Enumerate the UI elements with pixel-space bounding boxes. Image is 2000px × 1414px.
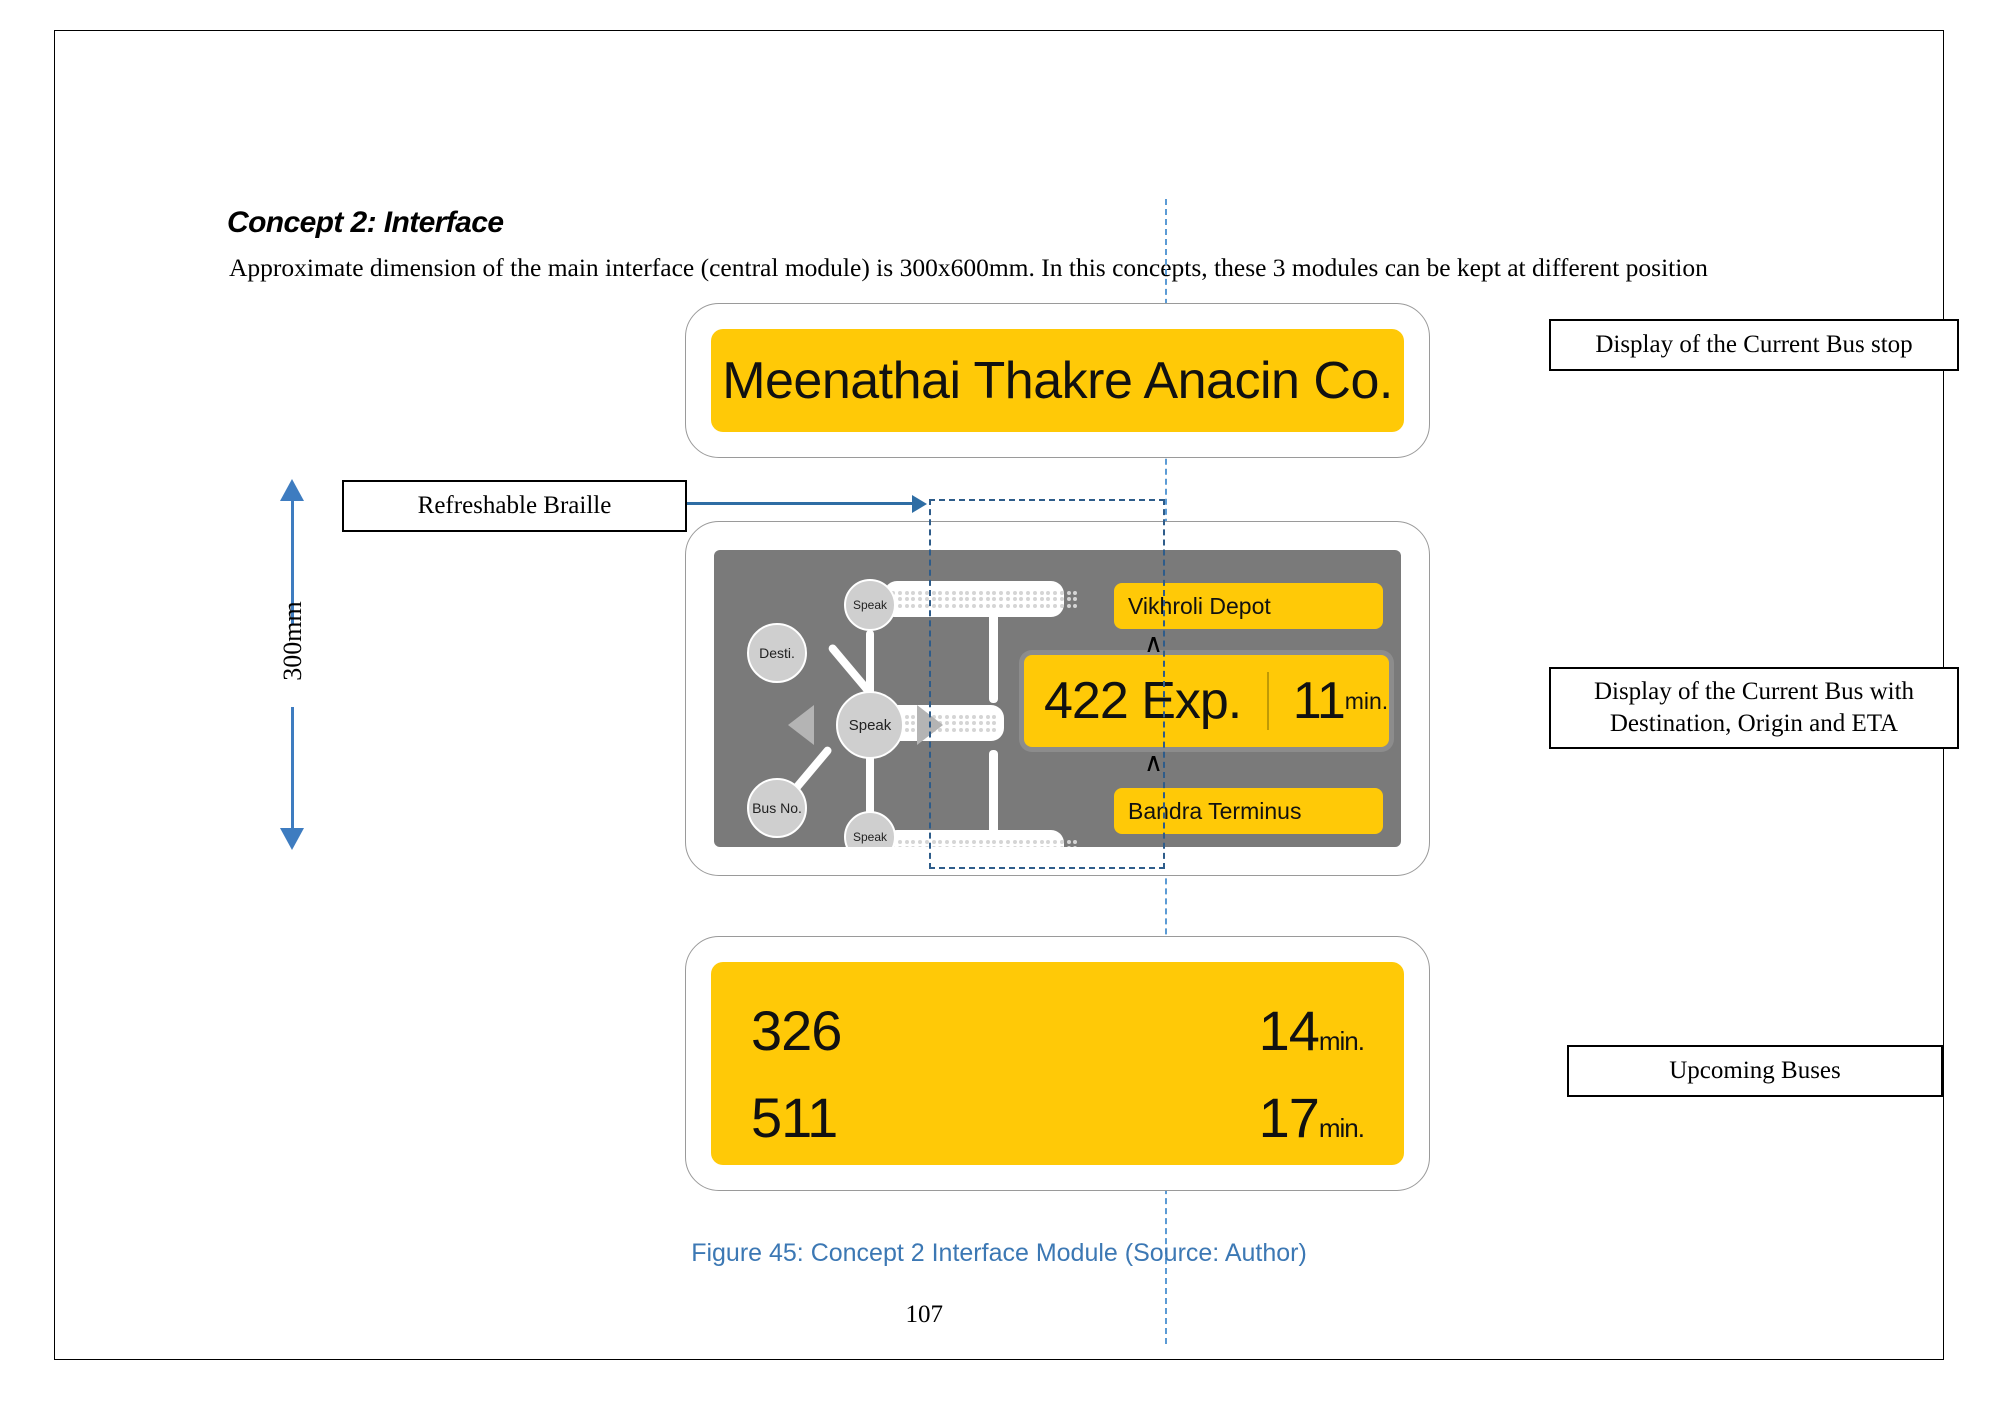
braille-dot: [905, 591, 909, 595]
body-paragraph: Approximate dimension of the main interf…: [229, 253, 1708, 283]
callout-current-bus-detail-line2: Destination, Origin and ETA: [1610, 710, 1898, 737]
callout-upcoming-buses: Upcoming Buses: [1567, 1045, 1943, 1097]
braille-dot: [905, 715, 909, 719]
braille-cell: [905, 715, 916, 732]
braille-dot: [918, 604, 922, 608]
node-speak-bottom-label: Speak: [853, 830, 887, 844]
braille-dot: [911, 840, 915, 844]
node-bus-number-label: Bus No.: [752, 800, 802, 816]
braille-dot: [911, 591, 915, 595]
page-number: 107: [55, 1301, 943, 1329]
callout-current-bus-stop: Display of the Current Bus stop: [1549, 319, 1959, 371]
callout-current-bus-detail-label: Display of the Current Bus with Destinat…: [1594, 676, 1914, 740]
braille-dot: [905, 728, 909, 732]
upcoming-eta-unit-0: min.: [1319, 1026, 1364, 1056]
braille-dot: [905, 846, 909, 847]
callout-current-bus-stop-label: Display of the Current Bus stop: [1595, 329, 1912, 361]
braille-dot: [918, 840, 922, 844]
node-destination-label: Desti.: [759, 645, 795, 661]
callout-current-bus-detail: Display of the Current Bus with Destinat…: [1549, 667, 1959, 749]
dimension-label: 300mm: [278, 581, 308, 701]
braille-dot: [898, 604, 902, 608]
braille-dot: [918, 591, 922, 595]
braille-dot: [911, 715, 915, 719]
braille-dot: [898, 597, 902, 601]
figure-caption: Figure 45: Concept 2 Interface Module (S…: [55, 1239, 1943, 1268]
upcoming-eta-0: 14min.: [1259, 998, 1364, 1063]
callout-current-bus-detail-line1: Display of the Current Bus with: [1594, 678, 1914, 705]
upcoming-route-1: 511: [751, 1085, 837, 1150]
braille-dot: [925, 604, 929, 608]
node-destination[interactable]: Desti.: [747, 623, 807, 683]
braille-dot: [905, 721, 909, 725]
braille-cell: [905, 840, 916, 848]
main-eta-unit: min.: [1345, 688, 1388, 715]
current-bus-stop-display: Meenathai Thakre Anacin Co.: [711, 329, 1404, 432]
braille-dot: [925, 591, 929, 595]
braille-cell: [918, 840, 929, 848]
main-display-divider: [1267, 672, 1269, 730]
module-upcoming-buses: 326 14min. 511 17min.: [685, 936, 1430, 1191]
braille-dot: [905, 597, 909, 601]
braille-highlight-box: [929, 499, 1165, 869]
node-speak-bottom[interactable]: Speak: [844, 811, 896, 847]
upcoming-route-0: 326: [751, 998, 841, 1063]
braille-dot: [911, 604, 915, 608]
braille-dot: [925, 597, 929, 601]
page-frame: Concept 2: Interface Approximate dimensi…: [54, 30, 1944, 1360]
node-speak-center[interactable]: Speak: [836, 691, 904, 759]
upcoming-eta-value-0: 14: [1259, 999, 1319, 1062]
braille-dot: [925, 846, 929, 847]
page-title: Concept 2: Interface: [227, 206, 503, 240]
upcoming-eta-1: 17min.: [1259, 1085, 1364, 1150]
main-eta-value: 11: [1293, 671, 1345, 731]
braille-dot: [911, 728, 915, 732]
braille-dot: [905, 840, 909, 844]
braille-dot: [898, 591, 902, 595]
upcoming-bus-row: 511 17min.: [751, 1087, 1364, 1147]
node-bus-number[interactable]: Bus No.: [747, 778, 807, 838]
callout-refreshable-braille-label: Refreshable Braille: [418, 490, 612, 522]
braille-dot: [918, 846, 922, 847]
dimension-arrow-head-down-icon: [280, 828, 304, 850]
upcoming-bus-row: 326 14min.: [751, 1000, 1364, 1060]
node-speak-top-label: Speak: [853, 598, 887, 612]
braille-dot: [911, 721, 915, 725]
current-bus-stop-text: Meenathai Thakre Anacin Co.: [722, 351, 1393, 411]
braille-dot: [911, 846, 915, 847]
node-speak-center-label: Speak: [849, 717, 892, 734]
module-current-bus-stop: Meenathai Thakre Anacin Co.: [685, 303, 1430, 458]
braille-dot: [898, 846, 902, 847]
upcoming-eta-value-1: 17: [1259, 1086, 1319, 1149]
braille-cell: [918, 591, 929, 608]
dimension-arrow-head-up-icon: [280, 479, 304, 501]
upcoming-buses-display: 326 14min. 511 17min.: [711, 962, 1404, 1165]
callout-refreshable-braille: Refreshable Braille: [342, 480, 687, 532]
braille-dot: [898, 840, 902, 844]
braille-dot: [918, 597, 922, 601]
braille-cell: [905, 591, 916, 608]
braille-callout-arrow-icon: [912, 495, 927, 513]
callout-upcoming-buses-label: Upcoming Buses: [1669, 1055, 1841, 1087]
braille-dot: [925, 840, 929, 844]
node-speak-top[interactable]: Speak: [844, 579, 896, 631]
braille-dot: [905, 604, 909, 608]
upcoming-eta-unit-1: min.: [1319, 1113, 1364, 1143]
braille-dot: [911, 597, 915, 601]
arrow-left-icon[interactable]: [788, 705, 814, 745]
braille-callout-line: [687, 502, 912, 505]
